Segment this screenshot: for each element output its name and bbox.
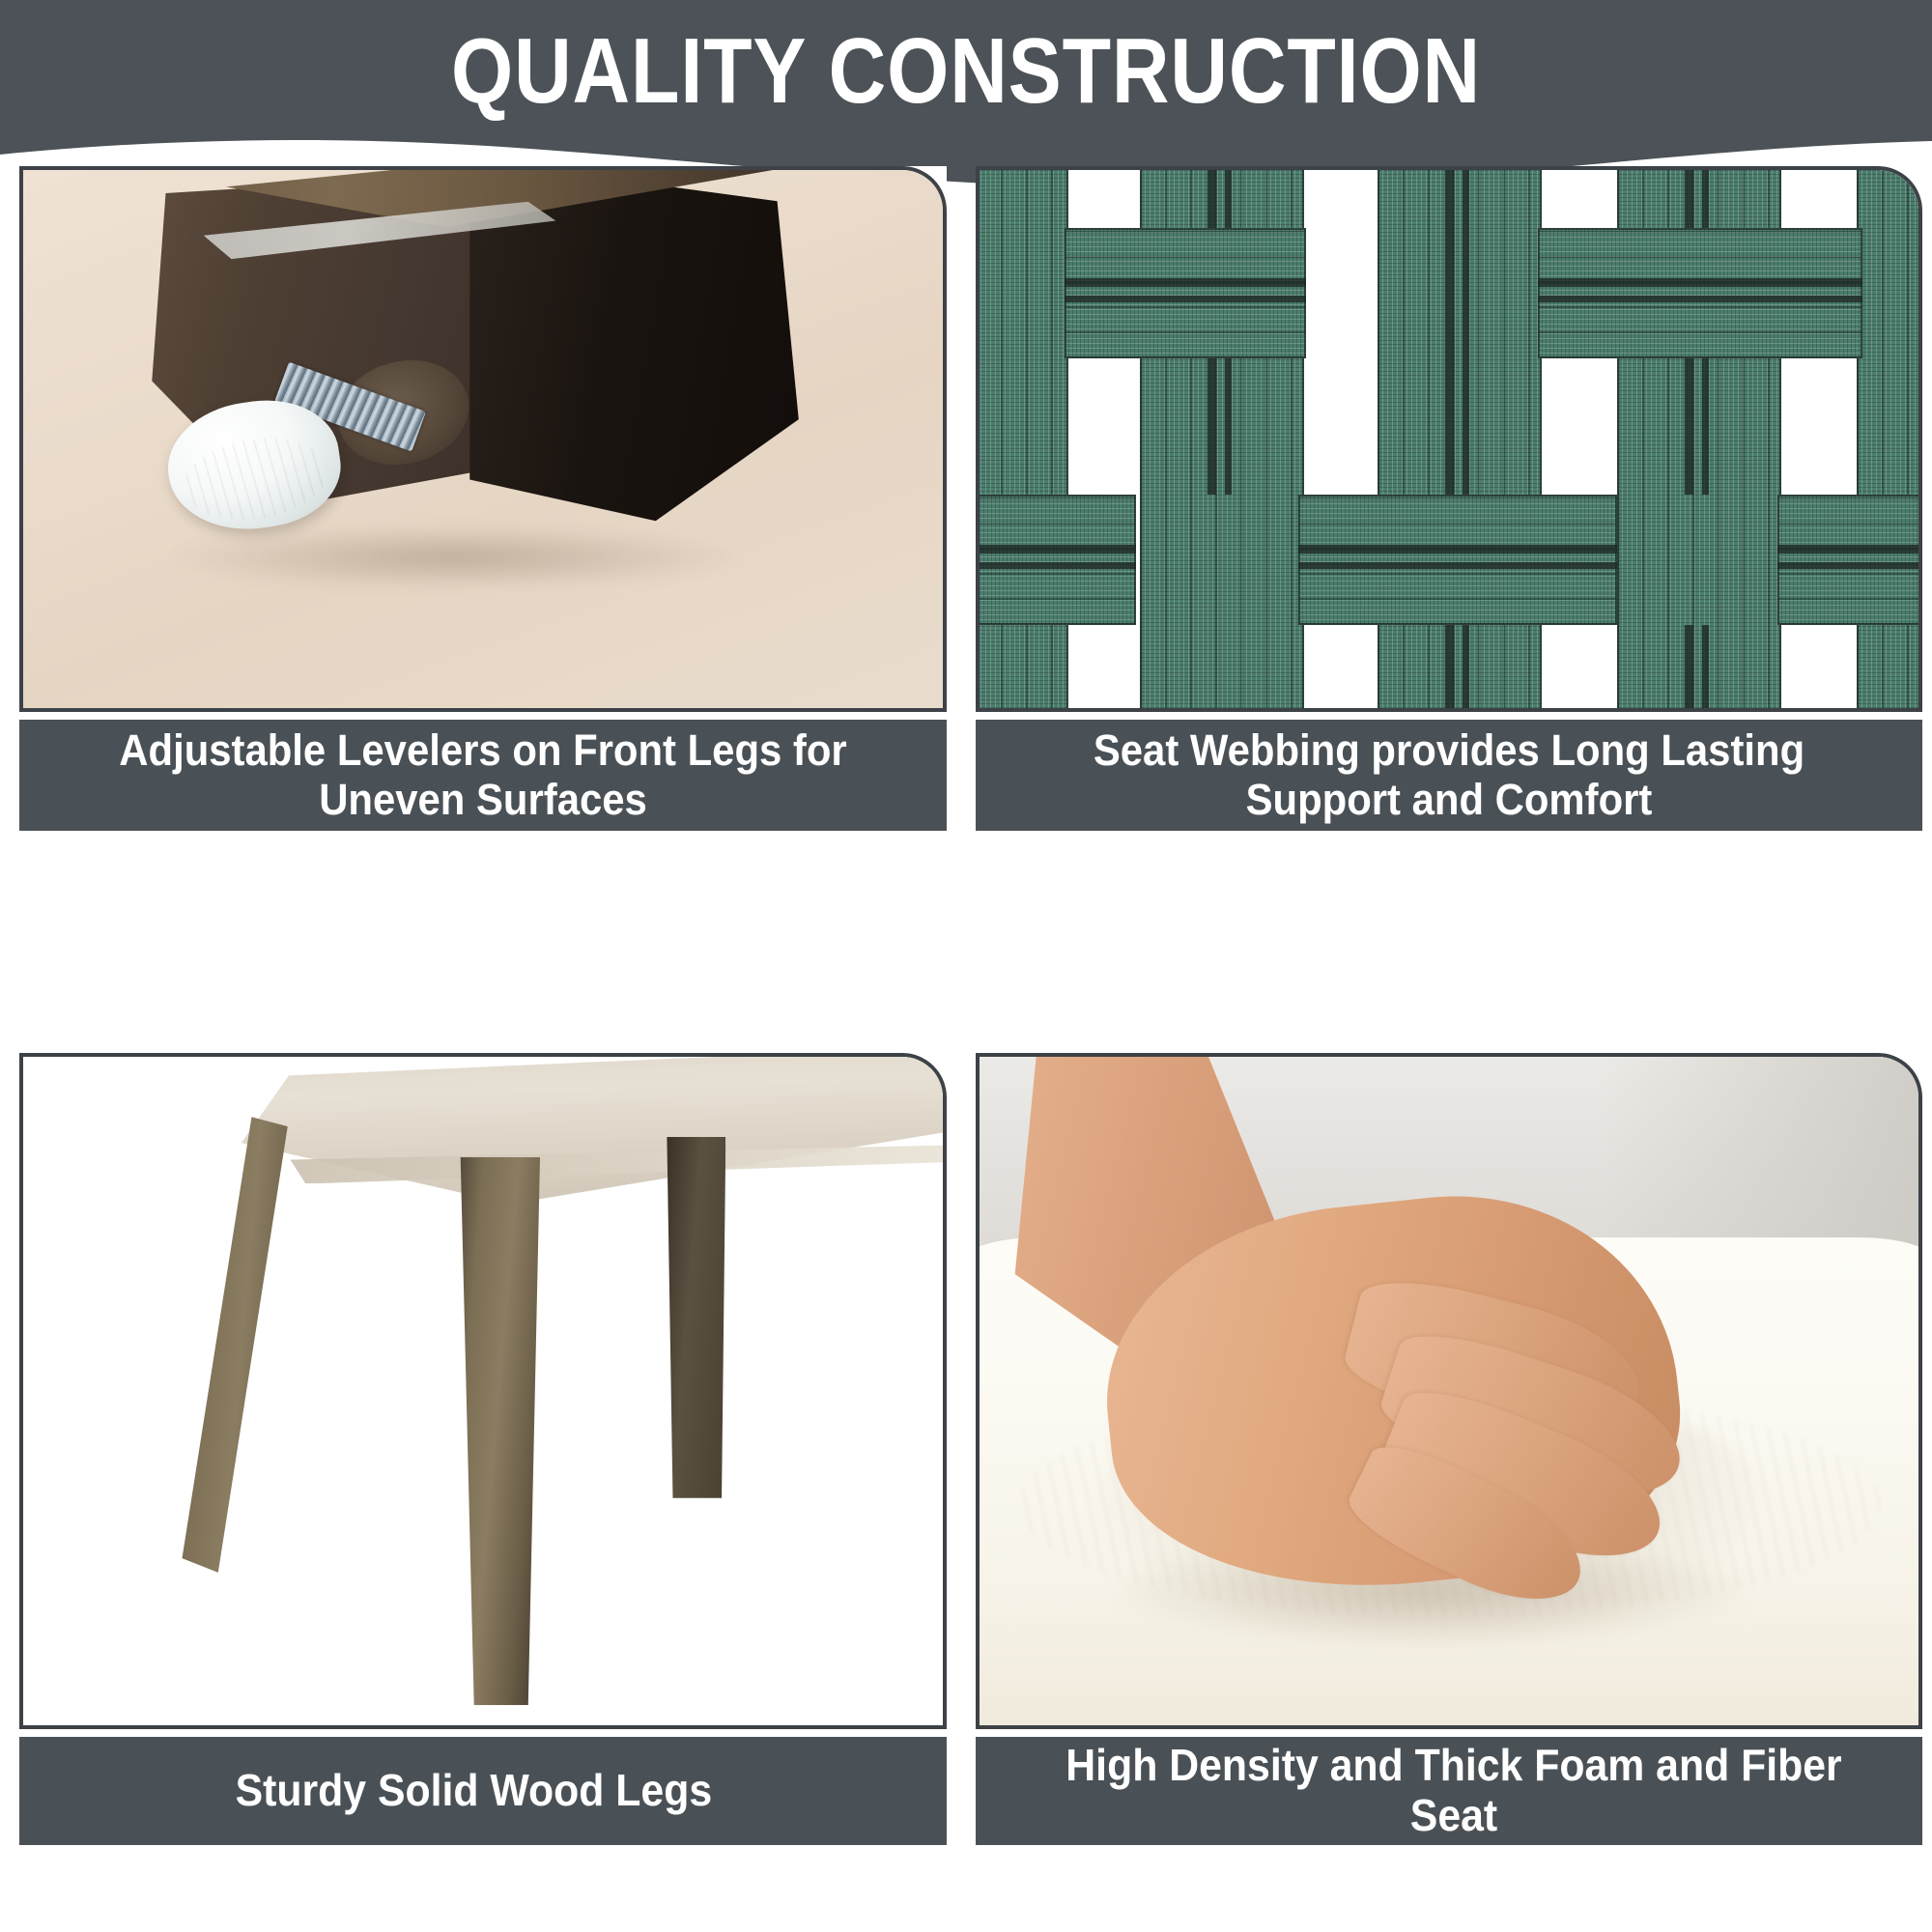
webbing-gap (1542, 358, 1617, 495)
caption-foam-text: High Density and Thick Foam and Fiber Se… (1025, 1741, 1882, 1840)
webbing-accent-bar (1225, 166, 1232, 228)
legs-photo (19, 1053, 947, 1729)
caption-levelers-text: Adjustable Levelers on Front Legs for Un… (68, 726, 897, 824)
webbing-accent-bar (1702, 625, 1709, 712)
webbing-gap (1068, 166, 1140, 228)
webbing-accent-bar (1207, 358, 1216, 495)
webbing-accent-bar (1463, 166, 1469, 495)
webbing-gap (1068, 358, 1140, 495)
chair-leg-left (180, 1117, 308, 1591)
webbing-image (980, 170, 1918, 708)
caption-webbing: Seat Webbing provides Long Lasting Suppo… (976, 720, 1922, 831)
leveler-image (23, 170, 943, 708)
chair-leg-right (667, 1137, 725, 1498)
webbing-gap (1781, 358, 1857, 495)
webbing-strap-vertical (1378, 166, 1542, 712)
webbing-accent-bar (1538, 296, 1862, 302)
webbing-accent-bar (1777, 545, 1922, 554)
webbing-accent-bar (1685, 625, 1693, 712)
webbing-gap (1304, 166, 1378, 228)
caption-legs: Sturdy Solid Wood Legs (19, 1737, 947, 1845)
webbing-accent-bar (976, 562, 1136, 569)
webbing-accent-bar (1065, 296, 1306, 302)
webbing-accent-bar (1463, 625, 1469, 712)
webbing-strap-horizontal (1298, 495, 1617, 625)
webbing-gap (1304, 625, 1378, 712)
wood-legs-image (23, 1057, 943, 1725)
webbing-accent-bar (1685, 166, 1693, 228)
webbing-gap (1781, 166, 1857, 228)
foam-photo (976, 1053, 1922, 1729)
card-legs: Sturdy Solid Wood Legs (19, 1053, 947, 1845)
chair-leg-front (455, 1157, 540, 1705)
webbing-strap-horizontal (976, 495, 1136, 625)
webbing-accent-bar (1702, 166, 1709, 228)
webbing-accent-bar (1065, 278, 1306, 287)
caption-legs-text: Sturdy Solid Wood Legs (235, 1766, 712, 1816)
caption-levelers: Adjustable Levelers on Front Legs for Un… (19, 720, 947, 831)
webbing-accent-bar (1298, 562, 1617, 569)
webbing-gap (1542, 166, 1617, 228)
webbing-accent-bar (1702, 358, 1709, 495)
card-levelers: Adjustable Levelers on Front Legs for Un… (19, 166, 947, 831)
card-webbing: Seat Webbing provides Long Lasting Suppo… (976, 166, 1922, 831)
webbing-photo (976, 166, 1922, 712)
webbing-accent-bar (1445, 166, 1454, 495)
webbing-accent-bar (1207, 166, 1216, 228)
webbing-accent-bar (1445, 625, 1454, 712)
caption-webbing-text: Seat Webbing provides Long Lasting Suppo… (1025, 726, 1873, 824)
foam-image (980, 1057, 1918, 1725)
webbing-strap-vertical (976, 166, 1068, 712)
card-foam: High Density and Thick Foam and Fiber Se… (976, 1053, 1922, 1845)
webbing-gap (1542, 625, 1617, 712)
wood-leg-block (152, 166, 813, 557)
webbing-strap-vertical (1857, 166, 1922, 712)
webbing-gap (1781, 625, 1857, 712)
webbing-accent-bar (976, 545, 1136, 554)
webbing-accent-bar (1538, 278, 1862, 287)
webbing-gap (1068, 625, 1140, 712)
webbing-accent-bar (1685, 358, 1693, 495)
webbing-strap-horizontal (1065, 228, 1306, 358)
webbing-strap-horizontal (1777, 495, 1922, 625)
webbing-strap-horizontal (1538, 228, 1862, 358)
hand (980, 1057, 1815, 1645)
webbing-accent-bar (1777, 562, 1922, 569)
page-title: QUALITY CONSTRUCTION (135, 25, 1797, 118)
caption-foam: High Density and Thick Foam and Fiber Se… (976, 1737, 1922, 1845)
page-header: QUALITY CONSTRUCTION (0, 0, 1932, 193)
webbing-accent-bar (1298, 545, 1617, 554)
levelers-photo (19, 166, 947, 712)
webbing-accent-bar (1225, 358, 1232, 495)
webbing-gap (1304, 358, 1378, 495)
